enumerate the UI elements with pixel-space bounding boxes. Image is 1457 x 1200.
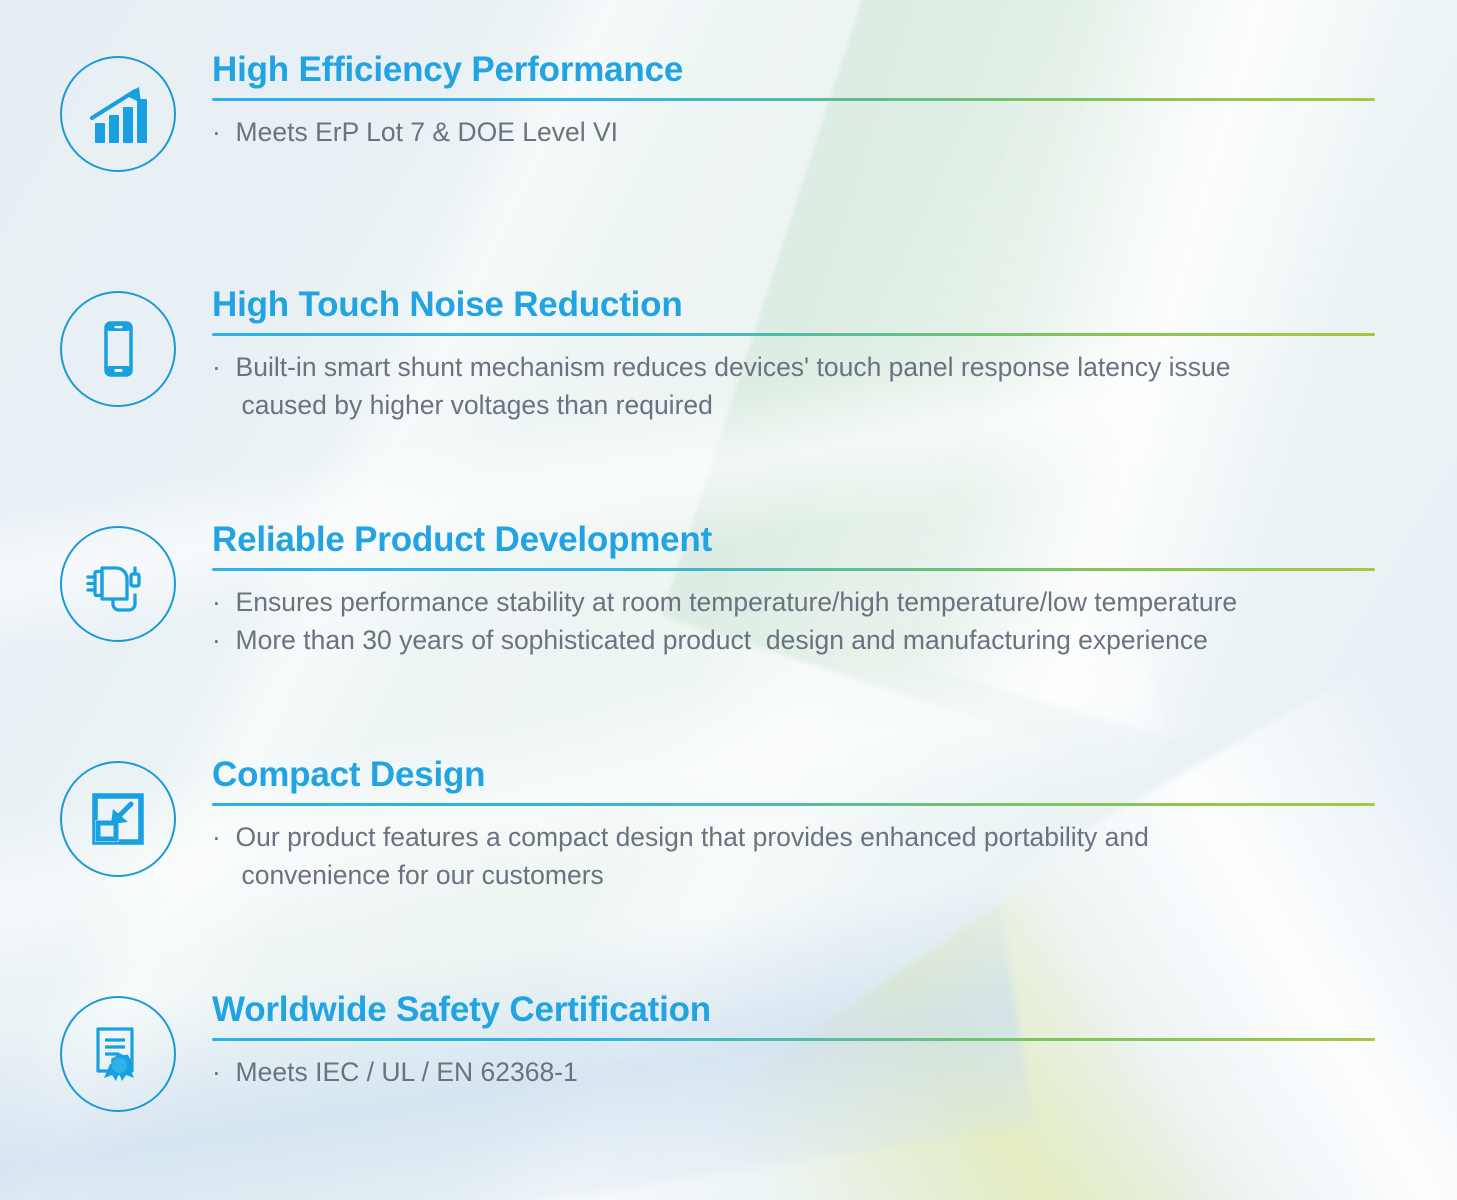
feature-description: · Ensures performance stability at room … xyxy=(212,584,1457,659)
feature-title: Compact Design xyxy=(212,757,1457,792)
feature-text-block: Reliable Product Development · Ensures p… xyxy=(212,522,1457,659)
feature-bullet-line-cont: convenience for our customers xyxy=(212,857,1457,895)
power-adapter-icon xyxy=(60,526,176,642)
certificate-seal-icon xyxy=(60,996,176,1112)
feature-divider xyxy=(212,803,1375,806)
feature-title: Reliable Product Development xyxy=(212,522,1457,557)
feature-divider xyxy=(212,568,1375,571)
feature-bullet-line: · Meets IEC / UL / EN 62368-1 xyxy=(212,1054,1457,1092)
bar-chart-growth-icon xyxy=(60,56,176,172)
feature-text-block: High Touch Noise Reduction · Built-in sm… xyxy=(212,287,1457,424)
feature-title: Worldwide Safety Certification xyxy=(212,992,1457,1027)
feature-text-block: Compact Design · Our product features a … xyxy=(212,757,1457,894)
smartphone-icon xyxy=(60,291,176,407)
feature-bullet-line: · Ensures performance stability at room … xyxy=(212,584,1457,622)
feature-bullet-line-2: · More than 30 years of sophisticated pr… xyxy=(212,622,1457,660)
feature-highlights-page: High Efficiency Performance · Meets ErP … xyxy=(0,0,1457,1200)
background-band-white-bottom xyxy=(1003,667,1457,1200)
feature-description: · Meets IEC / UL / EN 62368-1 xyxy=(212,1054,1457,1092)
feature-divider xyxy=(212,333,1375,336)
feature-title: High Efficiency Performance xyxy=(212,52,1457,87)
feature-bullet-line: · Built-in smart shunt mechanism reduces… xyxy=(212,349,1457,387)
feature-bullet-line-cont: caused by higher voltages than required xyxy=(212,387,1457,425)
compact-resize-icon xyxy=(60,761,176,877)
feature-title: High Touch Noise Reduction xyxy=(212,287,1457,322)
feature-text-block: Worldwide Safety Certification · Meets I… xyxy=(212,992,1457,1092)
feature-text-block: High Efficiency Performance · Meets ErP … xyxy=(212,52,1457,152)
feature-bullet-line: · Our product features a compact design … xyxy=(212,819,1457,857)
feature-bullet-line: · Meets ErP Lot 7 & DOE Level VI xyxy=(212,114,1457,152)
feature-description: · Built-in smart shunt mechanism reduces… xyxy=(212,349,1457,424)
feature-divider xyxy=(212,98,1375,101)
feature-description: · Our product features a compact design … xyxy=(212,819,1457,894)
feature-description: · Meets ErP Lot 7 & DOE Level VI xyxy=(212,114,1457,152)
feature-divider xyxy=(212,1038,1375,1041)
